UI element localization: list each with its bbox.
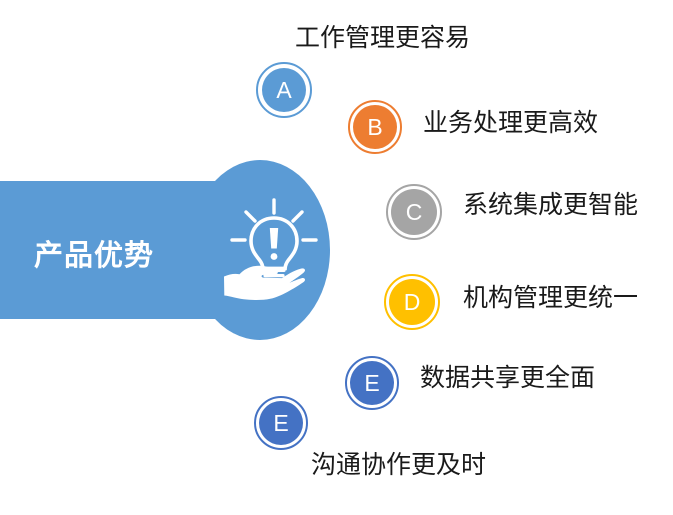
node-letter-b: B bbox=[367, 116, 382, 139]
node-circle-a[interactable]: A bbox=[256, 62, 312, 118]
node-letter-e: E bbox=[364, 372, 379, 395]
node-letter-d: D bbox=[404, 291, 421, 314]
lightbulb-in-hand-icon bbox=[222, 196, 326, 304]
node-circle-f[interactable]: E bbox=[254, 396, 308, 450]
node-label-e: 数据共享更全面 bbox=[420, 365, 595, 393]
node-label-f: 沟通协作更及时 bbox=[311, 452, 486, 480]
node-circle-b[interactable]: B bbox=[348, 100, 402, 154]
node-letter-c: C bbox=[406, 201, 423, 224]
node-circle-d[interactable]: D bbox=[384, 274, 440, 330]
node-label-d: 机构管理更统一 bbox=[463, 285, 638, 313]
node-letter-a: A bbox=[276, 79, 291, 102]
node-letter-f: E bbox=[273, 412, 288, 435]
diagram-canvas: 产品优势 A 工作管理更容易 bbox=[0, 0, 673, 515]
node-label-c: 系统集成更智能 bbox=[463, 192, 638, 220]
node-label-a: 工作管理更容易 bbox=[295, 25, 470, 53]
node-circle-e[interactable]: E bbox=[345, 356, 399, 410]
node-label-b: 业务处理更高效 bbox=[423, 110, 598, 138]
banner-title: 产品优势 bbox=[34, 232, 204, 274]
node-circle-c[interactable]: C bbox=[386, 184, 442, 240]
